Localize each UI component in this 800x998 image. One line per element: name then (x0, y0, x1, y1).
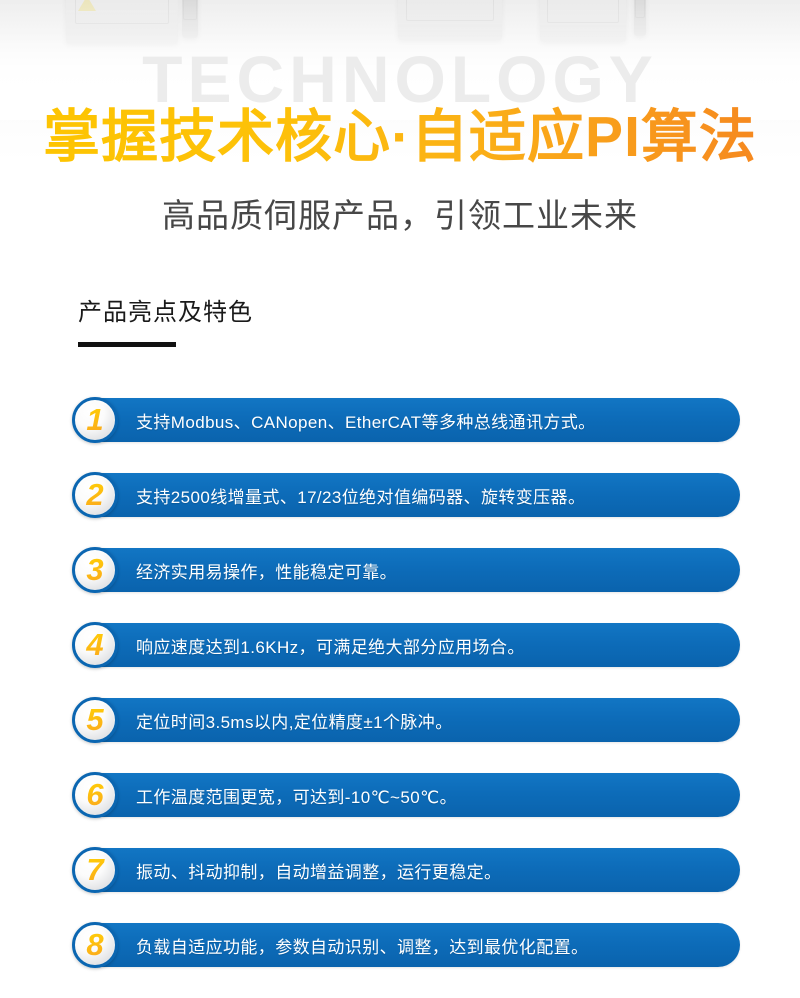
list-item: 3 经济实用易操作，性能稳定可靠。 (0, 548, 800, 592)
product-image-servo-drive-5 (634, 0, 646, 36)
badge-number: 4 (72, 622, 118, 668)
feature-text: 经济实用易操作，性能稳定可靠。 (136, 548, 397, 592)
number-badge: 2 (72, 472, 118, 518)
product-image-servo-drive-3 (398, 0, 502, 40)
number-badge: 1 (72, 397, 118, 443)
section-heading-underline (78, 342, 176, 347)
list-item: 2 支持2500线增量式、17/23位绝对值编码器、旋转变压器。 (0, 473, 800, 517)
number-badge: 8 (72, 922, 118, 968)
warning-triangle-icon (78, 0, 96, 11)
product-photo-strip (0, 0, 800, 46)
badge-number: 5 (72, 697, 118, 743)
badge-number: 2 (72, 472, 118, 518)
watermark-text: TECHNOLOGY (0, 46, 800, 112)
number-badge: 4 (72, 622, 118, 668)
list-item: 8 负载自适应功能，参数自动识别、调整，达到最优化配置。 (0, 923, 800, 967)
product-image-servo-drive-2 (182, 0, 198, 38)
feature-text: 支持2500线增量式、17/23位绝对值编码器、旋转变压器。 (136, 473, 585, 517)
badge-number: 8 (72, 922, 118, 968)
list-item: 5 定位时间3.5ms以内,定位精度±1个脉冲。 (0, 698, 800, 742)
badge-number: 3 (72, 547, 118, 593)
number-badge: 5 (72, 697, 118, 743)
badge-number: 1 (72, 397, 118, 443)
list-item: 4 响应速度达到1.6KHz，可满足绝大部分应用场合。 (0, 623, 800, 667)
list-item: 6 工作温度范围更宽，可达到-10℃~50℃。 (0, 773, 800, 817)
feature-text: 工作温度范围更宽，可达到-10℃~50℃。 (136, 773, 457, 817)
section-heading-label: 产品亮点及特色 (78, 298, 253, 328)
feature-list: 1 支持Modbus、CANopen、EtherCAT等多种总线通讯方式。 2 … (0, 398, 800, 967)
hero-subtitle: 高品质伺服产品，引领工业未来 (0, 196, 800, 236)
number-badge: 3 (72, 547, 118, 593)
feature-text: 支持Modbus、CANopen、EtherCAT等多种总线通讯方式。 (136, 398, 596, 442)
hero-banner: TECHNOLOGY 掌握技术核心·自适应PI算法 高品质伺服产品，引领工业未来 (0, 0, 800, 268)
feature-text: 定位时间3.5ms以内,定位精度±1个脉冲。 (136, 698, 453, 742)
badge-number: 6 (72, 772, 118, 818)
hero-title: 掌握技术核心·自适应PI算法 (0, 106, 800, 169)
section-heading: 产品亮点及特色 (78, 298, 253, 347)
feature-text: 负载自适应功能，参数自动识别、调整，达到最优化配置。 (136, 923, 588, 967)
badge-number: 7 (72, 847, 118, 893)
list-item: 1 支持Modbus、CANopen、EtherCAT等多种总线通讯方式。 (0, 398, 800, 442)
product-image-servo-drive-4 (540, 0, 626, 42)
list-item: 7 振动、抖动抑制，自动增益调整，运行更稳定。 (0, 848, 800, 892)
number-badge: 7 (72, 847, 118, 893)
feature-text: 响应速度达到1.6KHz，可满足绝大部分应用场合。 (136, 623, 525, 667)
number-badge: 6 (72, 772, 118, 818)
feature-text: 振动、抖动抑制，自动增益调整，运行更稳定。 (136, 848, 501, 892)
